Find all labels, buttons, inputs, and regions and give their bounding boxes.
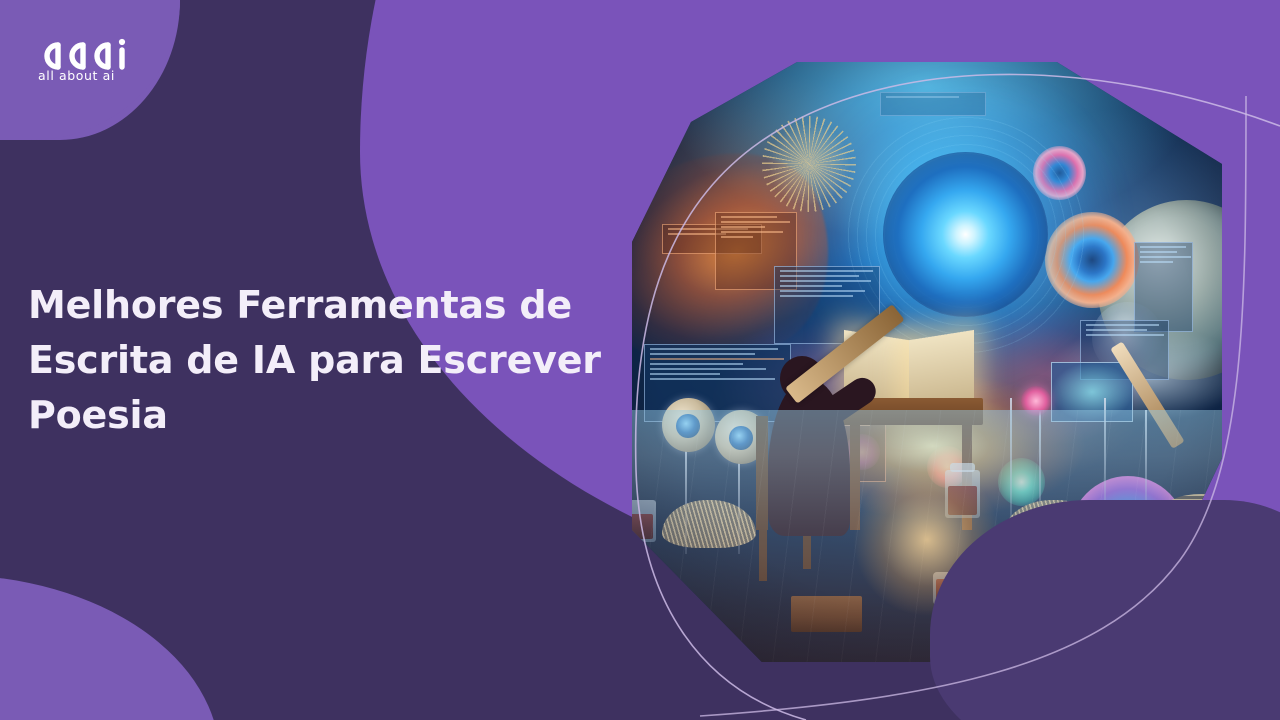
hero-banner: all about ai Melhores Ferramentas de Esc… bbox=[0, 0, 1280, 720]
blob-bottom-left bbox=[0, 575, 220, 720]
brand-tagline: all about ai bbox=[38, 68, 115, 83]
blob-bottom-right bbox=[930, 500, 1280, 720]
page-title: Melhores Ferramentas de Escrita de IA pa… bbox=[28, 278, 628, 443]
brand-logo[interactable] bbox=[34, 34, 154, 94]
